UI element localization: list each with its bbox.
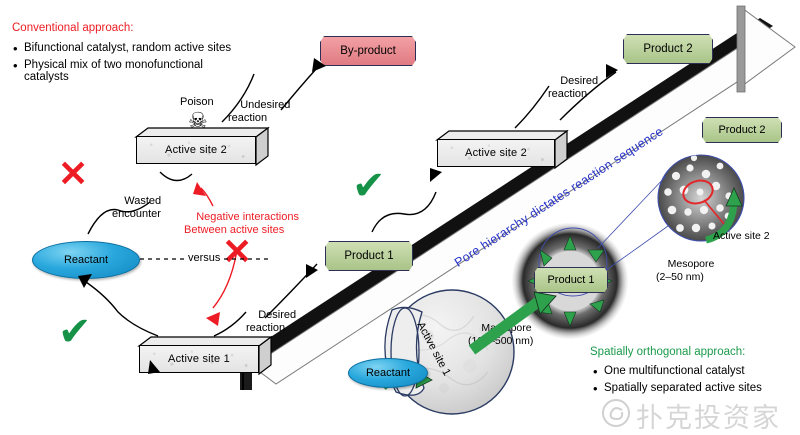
figure-canvas: Pore hierarchy dictates reaction sequenc… xyxy=(0,0,800,431)
watermark-logo-icon xyxy=(0,0,800,431)
